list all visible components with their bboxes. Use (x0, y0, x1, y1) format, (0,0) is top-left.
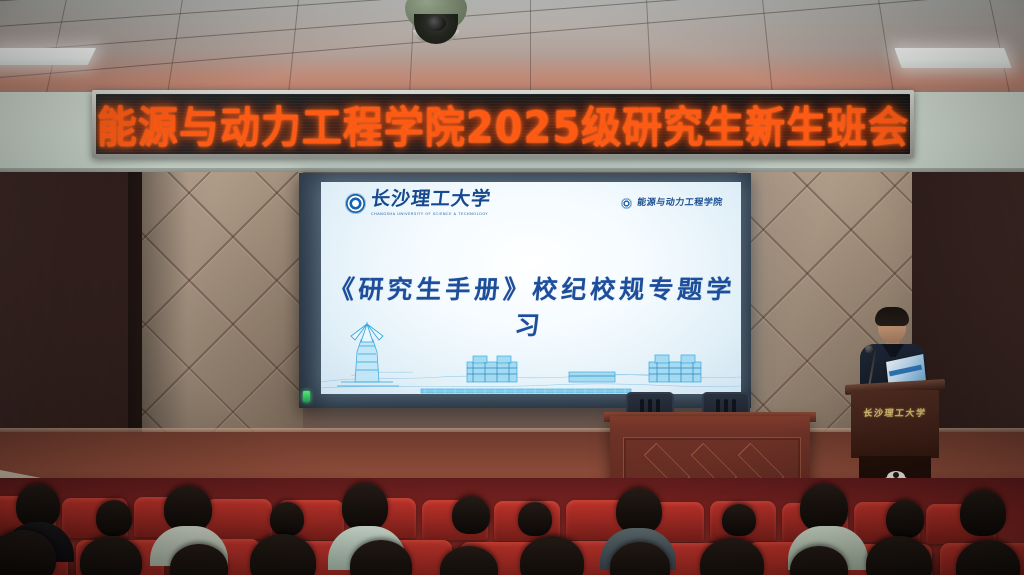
audience-head (800, 484, 848, 532)
school-logo-name: 能源与动力工程学院 (637, 199, 724, 208)
university-logo-subtitle: CHANGSHA UNIVERSITY OF SCIENCE & TECHNOL… (371, 212, 491, 216)
audience-head (96, 500, 132, 536)
audience-head (960, 490, 1006, 536)
dome-security-camera-icon (405, 0, 467, 48)
presenter-hair (875, 307, 909, 326)
projection-screen: 长沙理工大学 CHANGSHA UNIVERSITY OF SCIENCE & … (321, 182, 741, 394)
led-banner: 能源与动力工程学院2025级研究生新生班会 (92, 90, 914, 158)
audience-head (518, 502, 552, 536)
podium-nameplate: 长沙理工大学 (850, 406, 940, 419)
lecture-hall-photo: 能源与动力工程学院2025级研究生新生班会 长沙理工大学 CHANGSHA UN… (0, 0, 1024, 575)
circular-emblem-icon (621, 198, 632, 209)
audience-head (722, 504, 756, 536)
slide-logo-row: 长沙理工大学 CHANGSHA UNIVERSITY OF SCIENCE & … (321, 190, 741, 216)
university-logo-name: 长沙理工大学 (370, 190, 492, 209)
audience-head (886, 500, 924, 538)
circular-emblem-icon (345, 193, 366, 214)
audience-area (0, 478, 1024, 575)
screen-power-led-icon (303, 391, 310, 402)
school-logo: 能源与动力工程学院 (621, 198, 723, 209)
audience-head (452, 496, 490, 534)
led-banner-text: 能源与动力工程学院2025级研究生新生班会 (97, 94, 909, 154)
audience-head (270, 502, 304, 536)
ceiling-light-right (894, 48, 1011, 68)
led-banner-screen: 能源与动力工程学院2025级研究生新生班会 (96, 94, 910, 154)
audience-head (342, 483, 388, 531)
ceiling (0, 0, 1024, 98)
campus-skyline-line-art (321, 310, 741, 394)
ceiling-light-left (0, 48, 96, 65)
university-logo: 长沙理工大学 CHANGSHA UNIVERSITY OF SCIENCE & … (345, 190, 491, 216)
projection-screen-frame: 长沙理工大学 CHANGSHA UNIVERSITY OF SCIENCE & … (299, 173, 751, 408)
microphone-head-icon (865, 345, 873, 353)
